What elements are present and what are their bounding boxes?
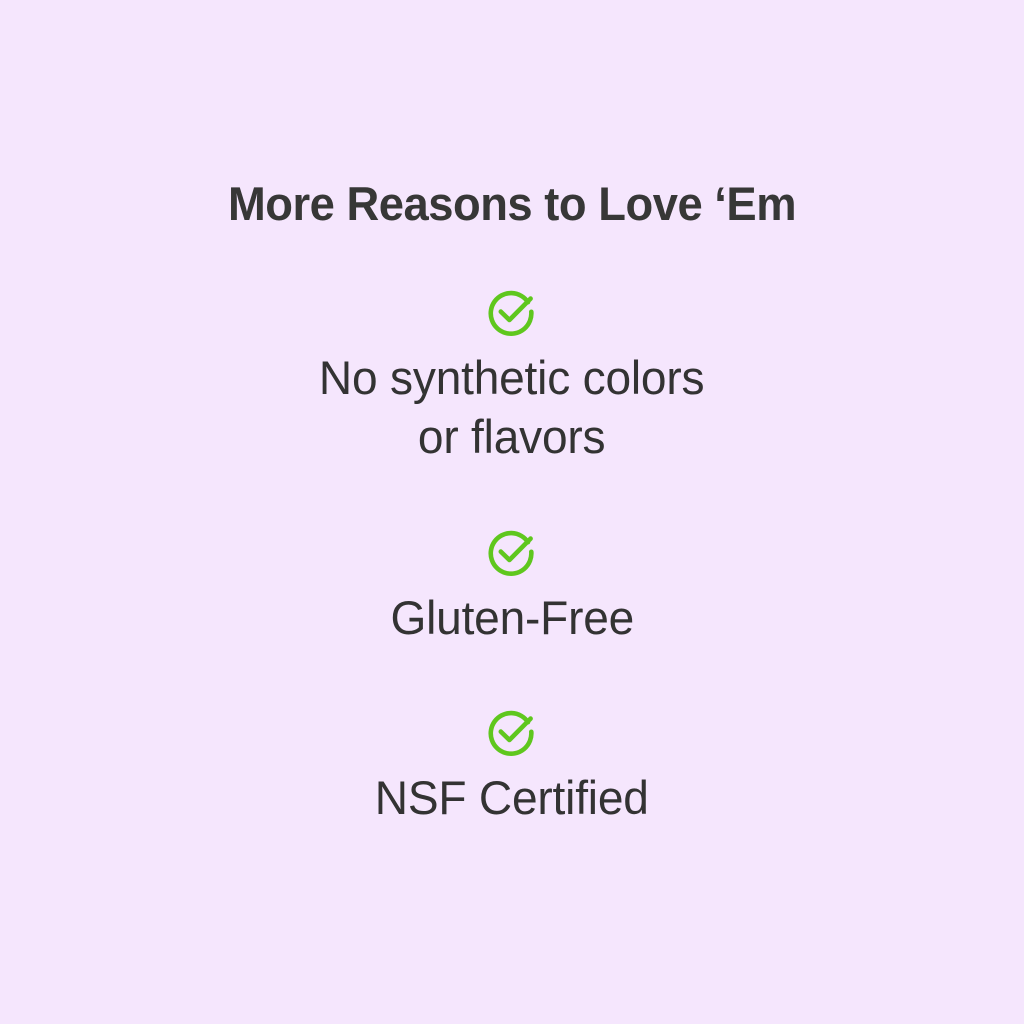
check-circle-icon [486, 525, 538, 577]
benefits-list: No synthetic colors or flavors Gluten-Fr… [0, 285, 1024, 828]
list-item-label: No synthetic colors or flavors [319, 349, 704, 467]
promo-card: More Reasons to Love ‘Em No synthetic co… [0, 0, 1024, 1024]
list-item-label: Gluten-Free [390, 589, 634, 648]
list-item: Gluten-Free [0, 525, 1024, 648]
check-circle-icon [486, 705, 538, 757]
list-item-label: NSF Certified [375, 769, 649, 828]
page-title: More Reasons to Love ‘Em [18, 178, 1006, 230]
check-circle-icon [486, 285, 538, 337]
list-item: NSF Certified [0, 705, 1024, 828]
list-item: No synthetic colors or flavors [0, 285, 1024, 467]
